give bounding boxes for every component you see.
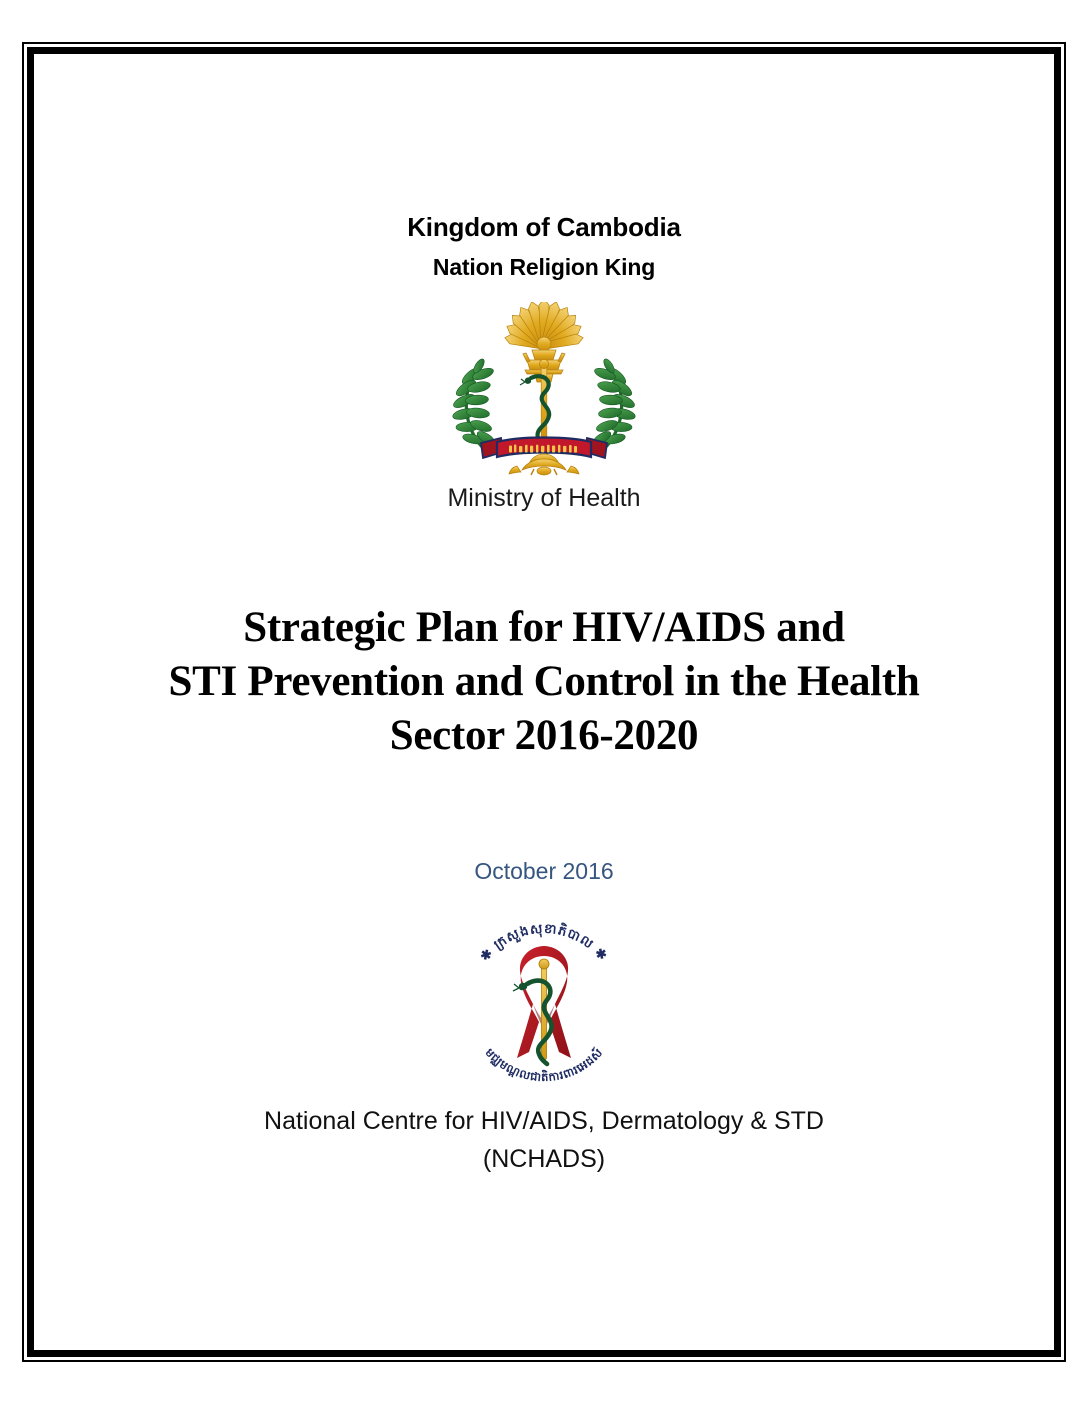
svg-text:✱ ក្រសួងសុខាភិបាល ✱: ✱ ក្រសួងសុខាភិបាល ✱ bbox=[477, 921, 611, 964]
cover-page: Kingdom of Cambodia Nation Religion King bbox=[0, 0, 1088, 1408]
page-border-outer: Kingdom of Cambodia Nation Religion King bbox=[22, 42, 1066, 1362]
ministry-of-health-emblem-icon bbox=[439, 302, 649, 486]
kingdom-of-cambodia-heading: Kingdom of Cambodia bbox=[34, 212, 1054, 243]
ministry-of-health-label: Ministry of Health bbox=[34, 484, 1054, 513]
organisation-name: National Centre for HIV/AIDS, Dermatolog… bbox=[34, 1102, 1054, 1178]
title-line-1: Strategic Plan for HIV/AIDS and bbox=[124, 601, 964, 655]
page-border-inner: Kingdom of Cambodia Nation Religion King bbox=[27, 47, 1061, 1357]
organisation-line-2: (NCHADS) bbox=[34, 1140, 1054, 1178]
nchads-logo-icon: ✱ ក្រសួងសុខាភិបាល ✱ មជ្ឈមណ្ដលជាតិការពារអ… bbox=[451, 912, 637, 1098]
title-line-3: Sector 2016-2020 bbox=[124, 709, 964, 763]
page-title: Strategic Plan for HIV/AIDS and STI Prev… bbox=[124, 601, 964, 763]
title-line-2: STI Prevention and Control in the Health bbox=[124, 655, 964, 709]
publication-date: October 2016 bbox=[34, 858, 1054, 885]
organisation-line-1: National Centre for HIV/AIDS, Dermatolog… bbox=[34, 1102, 1054, 1140]
cover-content: Kingdom of Cambodia Nation Religion King bbox=[34, 54, 1054, 1350]
nation-religion-king-heading: Nation Religion King bbox=[34, 254, 1054, 281]
